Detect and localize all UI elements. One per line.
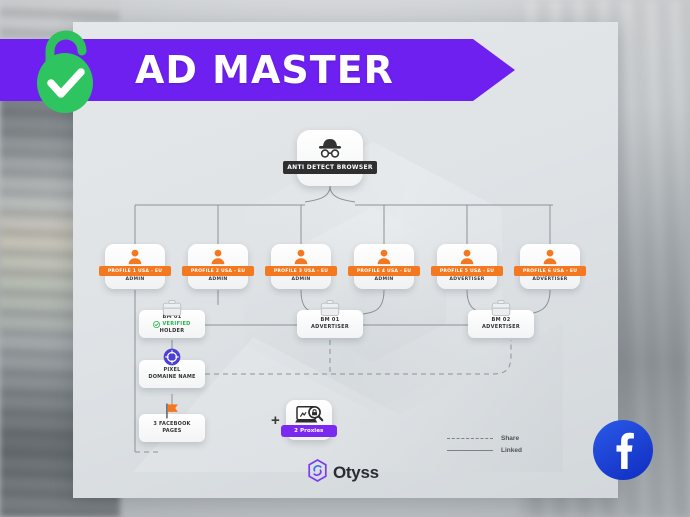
node-profile-2[interactable]: PROFILE 2 USA - EU ADMIN (188, 244, 248, 289)
pixel-line-2: DOMAINE NAME (148, 374, 195, 381)
node-profile-5[interactable]: PROFILE 5 USA - EU ADVERTISER (437, 244, 497, 289)
legend-label-share: Share (501, 435, 519, 442)
plus-sign: + (271, 413, 280, 428)
profile-name: PROFILE 1 USA - EU (99, 266, 171, 276)
page-title: AD MASTER (135, 48, 394, 92)
lock-check-badge (28, 26, 104, 116)
dashed-line-swatch (447, 438, 493, 439)
profile-role: ADMIN (354, 277, 414, 282)
pages-line-2: PAGES (162, 428, 181, 435)
node-profile-1[interactable]: PROFILE 1 USA - EU ADMIN (105, 244, 165, 289)
proxies-group[interactable]: + 2 Proxies (271, 400, 332, 440)
brand-logo: Otyss (307, 459, 379, 487)
profile-role: ADMIN (271, 277, 331, 282)
profile-role: ADMIN (188, 277, 248, 282)
profile-name: PROFILE 3 USA - EU (265, 266, 337, 276)
briefcase-icon (490, 297, 512, 323)
node-anti-detect-browser[interactable]: ANTI DETECT BROWSER (297, 130, 363, 186)
profile-name: PROFILE 5 USA - EU (431, 266, 503, 276)
node-profile-3[interactable]: PROFILE 3 USA - EU ADMIN (271, 244, 331, 289)
node-proxies-card[interactable]: 2 Proxies (286, 400, 332, 440)
legend: Share Linked (447, 432, 522, 456)
bm-line-3: HOLDER (160, 328, 185, 335)
node-bm-01-verified-holder[interactable]: BM 01 VERIFIED HOLDER (139, 310, 205, 338)
pixel-target-icon (162, 347, 182, 372)
node-pixel-domain[interactable]: PIXEL DOMAINE NAME (139, 360, 205, 388)
profile-role: ADVERTISER (520, 277, 580, 282)
briefcase-icon (319, 297, 341, 323)
legend-label-linked: Linked (501, 447, 522, 454)
orange-flag-icon (162, 401, 182, 426)
otyss-hex-logo-icon (307, 459, 328, 487)
solid-line-swatch (447, 450, 493, 451)
profile-name: PROFILE 2 USA - EU (182, 266, 254, 276)
node-facebook-pages[interactable]: 3 FACEBOOK PAGES (139, 414, 205, 442)
profile-name: PROFILE 6 USA - EU (514, 266, 586, 276)
profile-role: ADMIN (105, 277, 165, 282)
legend-item-share: Share (447, 432, 522, 444)
anti-detect-browser-label: ANTI DETECT BROWSER (283, 161, 377, 174)
legend-item-linked: Linked (447, 444, 522, 456)
node-profile-6[interactable]: PROFILE 6 USA - EU ADVERTISER (520, 244, 580, 289)
profile-name: PROFILE 4 USA - EU (348, 266, 420, 276)
proxies-badge: 2 Proxies (281, 425, 337, 437)
profile-role: ADVERTISER (437, 277, 497, 282)
bm-line-2: ADVERTISER (482, 324, 520, 331)
node-bm-01-advertiser[interactable]: BM 01 ADVERTISER (297, 310, 363, 338)
node-profile-4[interactable]: PROFILE 4 USA - EU ADMIN (354, 244, 414, 289)
node-bm-02-advertiser[interactable]: BM 02 ADVERTISER (468, 310, 534, 338)
brand-name: Otyss (333, 463, 379, 483)
facebook-badge[interactable] (592, 419, 654, 481)
bm-line-2: ADVERTISER (311, 324, 349, 331)
briefcase-icon (161, 297, 183, 323)
green-check-small-icon (153, 321, 160, 328)
